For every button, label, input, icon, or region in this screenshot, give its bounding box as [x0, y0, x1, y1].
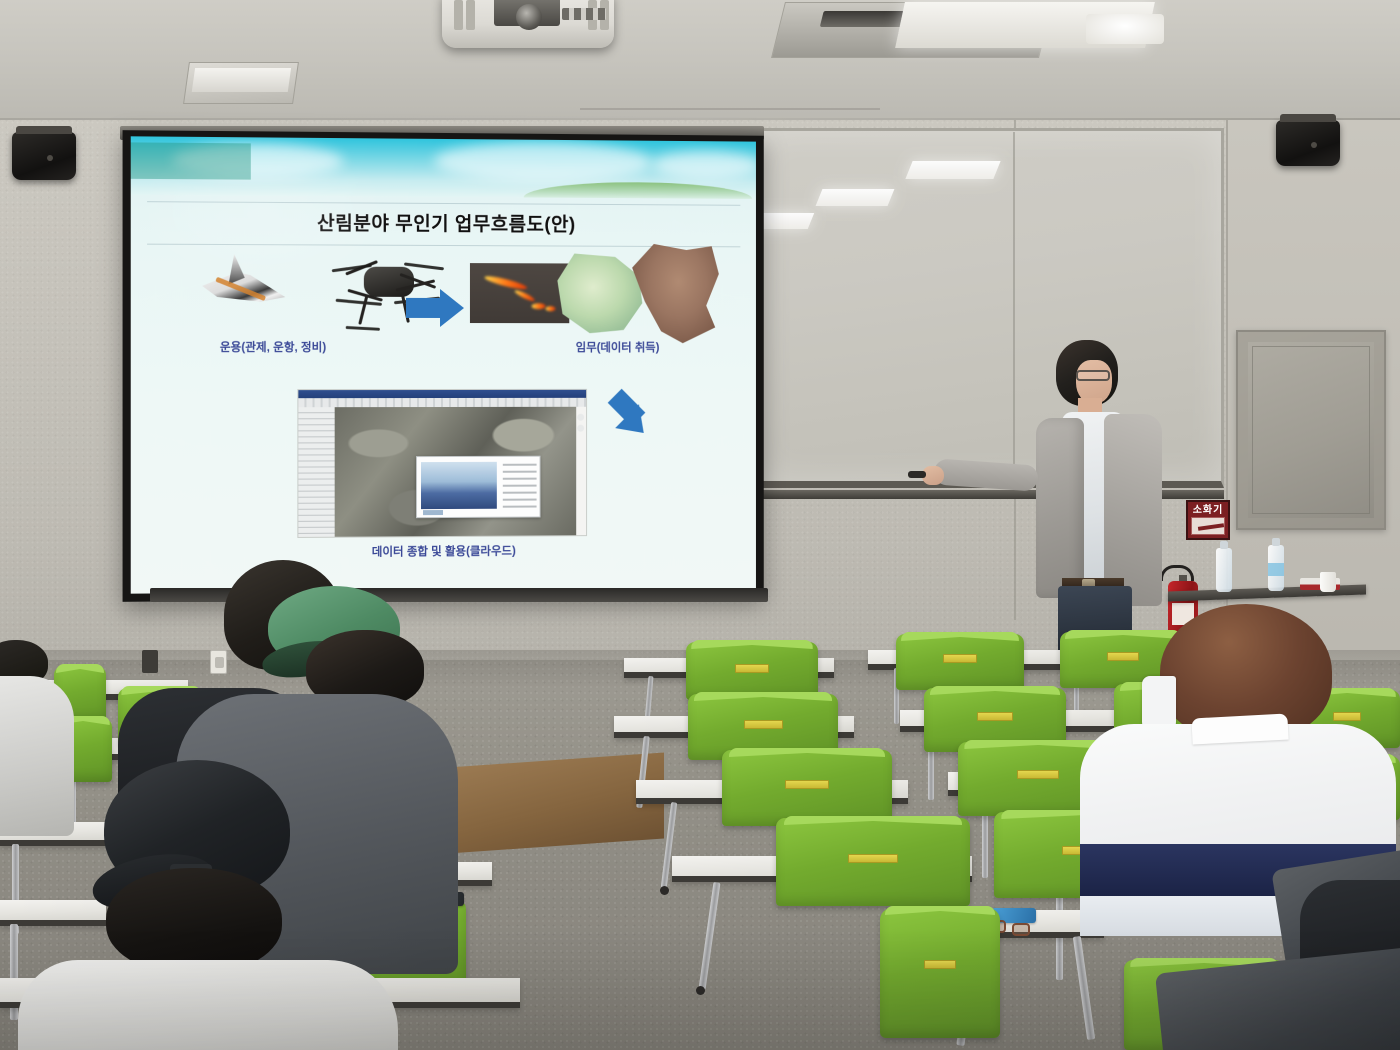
whiteboard-seam — [1013, 132, 1015, 484]
chair[interactable] — [880, 908, 1000, 1038]
wooden-podium-base — [448, 752, 664, 853]
slide-caption-operations: 운용(관제, 운항, 정비) — [172, 339, 374, 355]
hand-sanitizer-bottle[interactable] — [1216, 548, 1232, 592]
slide-title: 산림분야 무인기 업무흐름도(안) — [131, 207, 756, 237]
ceiling-projector — [442, 0, 614, 48]
forest-fire-photo — [470, 263, 569, 323]
vegetation-map-image — [557, 253, 642, 333]
wall-access-panel — [1236, 330, 1386, 530]
ceiling-vent-left — [183, 62, 299, 104]
chair[interactable] — [686, 642, 818, 700]
terrain-map-image — [629, 244, 719, 343]
classroom-scene: 소화기 산림분야 무인기 업무흐름도(안) — [0, 0, 1400, 1050]
wall-speaker-left — [12, 132, 76, 180]
paper-cup[interactable] — [1320, 572, 1336, 592]
chair-asset-sticker — [848, 854, 898, 863]
presenter — [1022, 340, 1174, 660]
arrow-down-diagonal-icon — [611, 387, 668, 445]
whiteboard-light-reflection — [816, 189, 895, 206]
chair-asset-sticker — [735, 664, 769, 673]
chair-asset-sticker — [1333, 712, 1361, 721]
projection-screen: 산림분야 무인기 업무흐름도(안) — [123, 130, 764, 602]
slide-caption-mission: 임무(데이터 취득) — [524, 339, 711, 355]
chair-asset-sticker — [744, 720, 783, 729]
wall-outlet-dark — [142, 650, 158, 673]
chair-asset-sticker — [1017, 770, 1059, 779]
chair[interactable] — [896, 634, 1024, 690]
chair-asset-sticker — [924, 960, 955, 969]
presenter-head — [1056, 340, 1118, 406]
slide-content: 산림분야 무인기 업무흐름도(안) — [131, 136, 756, 593]
whiteboard-light-reflection — [905, 161, 1000, 179]
chair-asset-sticker — [1107, 652, 1140, 661]
multirotor-drone-icon — [330, 242, 446, 335]
ceiling-light-small — [1086, 14, 1164, 44]
presentation-clicker[interactable] — [908, 471, 926, 478]
fire-sign-label: 소화기 — [1190, 504, 1226, 518]
glasses-icon — [1076, 370, 1110, 381]
gis-software-window — [297, 389, 587, 538]
gis-popup-card — [416, 456, 541, 518]
fire-sign-pictogram — [1191, 517, 1225, 535]
water-bottle[interactable] — [1268, 545, 1284, 591]
wall-outlet — [210, 650, 227, 674]
presenter-jacket-left — [1036, 418, 1084, 598]
chair[interactable] — [776, 818, 970, 906]
slide-caption-data: 데이터 종합 및 활용(클라우드) — [283, 542, 603, 560]
ceiling — [0, 0, 1400, 132]
projector-lens — [516, 4, 542, 30]
wall-speaker-right — [1276, 120, 1340, 166]
fire-extinguisher-sign: 소화기 — [1186, 500, 1230, 540]
fixed-wing-drone-icon — [202, 252, 285, 323]
chair-asset-sticker — [785, 780, 829, 789]
slide-green-band — [131, 142, 251, 179]
chair-asset-sticker — [943, 654, 976, 663]
chair-asset-sticker — [977, 712, 1014, 721]
chair[interactable] — [722, 750, 892, 826]
projector-ports — [562, 8, 606, 20]
